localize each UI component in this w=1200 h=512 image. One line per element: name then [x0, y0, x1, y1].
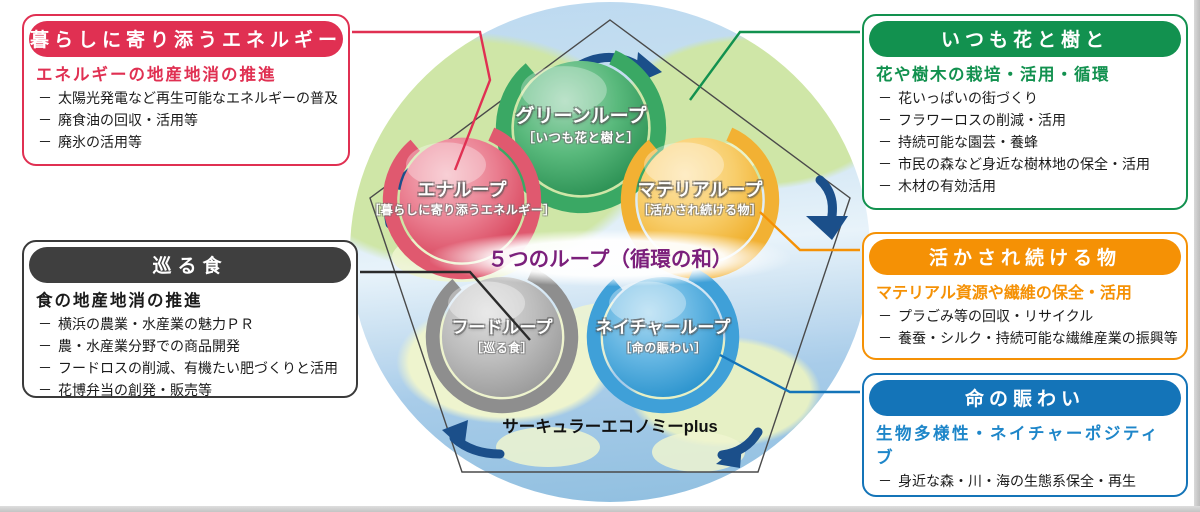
box-flower-list: －花いっぱいの街づくり －フラワーロスの削減・活用 －持続可能な園芸・養蜂 －市… [864, 88, 1186, 202]
list-item-text: 花博弁当の創発・販売等 [58, 380, 212, 398]
box-food[interactable]: 巡る食 食の地産地消の推進 －横浜の農業・水産業の魅力ＰＲ －農・水産業分野での… [22, 240, 358, 398]
bullet-dash: － [878, 132, 892, 152]
box-energy-list: －太陽光発電など再生可能なエネルギーの普及 －廃食油の回収・活用等 －廃氷の活用… [24, 88, 348, 158]
loop-material-name: マテリアループ [638, 180, 763, 201]
box-material[interactable]: 活かされ続ける物 マテリアル資源や繊維の保全・活用 －プラごみ等の回収・リサイク… [862, 232, 1188, 360]
list-item-text: プラごみ等の回収・リサイクル [898, 306, 1093, 326]
list-item-text: 木材の有効活用 [898, 176, 996, 196]
list-item-text: 養蚕・シルク・持続可能な繊維産業の振興等 [898, 328, 1178, 348]
bullet-dash: － [878, 88, 892, 108]
box-material-list: －プラごみ等の回収・リサイクル －養蚕・シルク・持続可能な繊維産業の振興等 [864, 306, 1186, 354]
box-food-subtitle: 食の地産地消の推進 [24, 283, 356, 312]
bullet-dash: － [878, 306, 892, 326]
bullet-dash: － [878, 493, 892, 497]
loop-nature-name: ネイチャーループ [596, 318, 731, 338]
list-item: －身近な森・川・海の生態系保全・再生 [878, 471, 1178, 491]
list-item: －プラごみ等の回収・リサイクル [878, 306, 1178, 326]
central-diagram: グリーンループ ［いつも花と樹と］ エナループ ［暮らしに寄り添うエネルギー］ [320, 0, 900, 512]
bullet-dash: － [38, 314, 52, 334]
list-item-text: フラワーロスの削減・活用 [898, 110, 1066, 130]
list-item-text: 廃食油の回収・活用等 [58, 110, 198, 130]
list-item: －廃氷の活用等 [38, 132, 340, 152]
bullet-dash: － [878, 471, 892, 491]
loop-green-sub: ［いつも花と樹と］ [522, 131, 639, 145]
list-item: －養蚕・シルク・持続可能な繊維産業の振興等 [878, 328, 1178, 348]
box-life-list: －身近な森・川・海の生態系保全・再生 －希少な生き物の保全と復活 等 [864, 471, 1186, 497]
center-title: ５つのループ（循環の和） [415, 235, 805, 279]
box-flower-subtitle: 花や樹木の栽培・活用・循環 [864, 57, 1186, 86]
box-food-title: 巡る食 [29, 247, 351, 283]
loop-food-sub: ［巡る食］ [471, 342, 534, 356]
loop-green-name: グリーンループ [516, 106, 647, 128]
list-item: －市民の森など身近な樹林地の保全・活用 [878, 154, 1178, 174]
list-item-text: 廃氷の活用等 [58, 132, 142, 152]
list-item: －太陽光発電など再生可能なエネルギーの普及 [38, 88, 340, 108]
list-item: －花博弁当の創発・販売等 [38, 380, 348, 398]
list-item-text: 花いっぱいの街づくり [898, 88, 1038, 108]
box-life-subtitle: 生物多様性・ネイチャーポジティブ [864, 416, 1186, 469]
bullet-dash: － [878, 154, 892, 174]
list-item: －希少な生き物の保全と復活 等 [878, 493, 1178, 497]
box-material-title: 活かされ続ける物 [869, 239, 1181, 275]
bullet-dash: － [38, 336, 52, 356]
list-item-text: 持続可能な園芸・養蜂 [898, 132, 1038, 152]
list-item: －木材の有効活用 [878, 176, 1178, 196]
list-item: －農・水産業分野での商品開発 [38, 336, 348, 356]
list-item: －廃食油の回収・活用等 [38, 110, 340, 130]
list-item: －フードロスの削減、有機たい肥づくりと活用 [38, 358, 348, 378]
list-item-text: 横浜の農業・水産業の魅力ＰＲ [58, 314, 254, 334]
list-item-text: 身近な森・川・海の生態系保全・再生 [898, 471, 1136, 491]
loop-ena-sub: ［暮らしに寄り添うエネルギー］ [368, 204, 556, 218]
box-material-subtitle: マテリアル資源や繊維の保全・活用 [864, 275, 1186, 304]
diagram-page: グリーンループ ［いつも花と樹と］ エナループ ［暮らしに寄り添うエネルギー］ [0, 0, 1200, 512]
box-energy-title: 暮らしに寄り添うエネルギー [29, 21, 343, 57]
bullet-dash: － [878, 176, 892, 196]
bullet-dash: － [38, 88, 52, 108]
loop-material-sub: ［活かされ続ける物］ [637, 204, 762, 218]
bullet-dash: － [38, 358, 52, 378]
bullet-dash: － [38, 110, 52, 130]
box-food-list: －横浜の農業・水産業の魅力ＰＲ －農・水産業分野での商品開発 －フードロスの削減… [24, 314, 356, 398]
loop-nature-sub: ［命の賑わい］ [619, 342, 707, 356]
box-flower[interactable]: いつも花と樹と 花や樹木の栽培・活用・循環 －花いっぱいの街づくり －フラワーロ… [862, 14, 1188, 210]
box-life-title: 命の賑わい [869, 380, 1181, 416]
bullet-dash: － [878, 328, 892, 348]
box-life[interactable]: 命の賑わい 生物多様性・ネイチャーポジティブ －身近な森・川・海の生態系保全・再… [862, 373, 1188, 497]
box-flower-title: いつも花と樹と [869, 21, 1181, 57]
list-item-text: 市民の森など身近な樹林地の保全・活用 [898, 154, 1150, 174]
list-item-text: 希少な生き物の保全と復活 等 [898, 493, 1084, 497]
bullet-dash: － [38, 380, 52, 398]
list-item: －横浜の農業・水産業の魅力ＰＲ [38, 314, 348, 334]
bullet-dash: － [878, 110, 892, 130]
center-caption: サーキュラーエコノミーplus [460, 412, 760, 438]
box-energy-subtitle: エネルギーの地産地消の推進 [24, 57, 348, 86]
list-item-text: 太陽光発電など再生可能なエネルギーの普及 [58, 88, 338, 108]
box-energy[interactable]: 暮らしに寄り添うエネルギー エネルギーの地産地消の推進 －太陽光発電など再生可能… [22, 14, 350, 166]
bullet-dash: － [38, 132, 52, 152]
list-item-text: 農・水産業分野での商品開発 [58, 336, 240, 356]
list-item: －持続可能な園芸・養蜂 [878, 132, 1178, 152]
loop-ena-name: エナループ [418, 180, 507, 201]
list-item: －フラワーロスの削減・活用 [878, 110, 1178, 130]
list-item: －花いっぱいの街づくり [878, 88, 1178, 108]
loop-food-name: フードループ [452, 318, 553, 338]
list-item-text: フードロスの削減、有機たい肥づくりと活用 [58, 358, 338, 378]
